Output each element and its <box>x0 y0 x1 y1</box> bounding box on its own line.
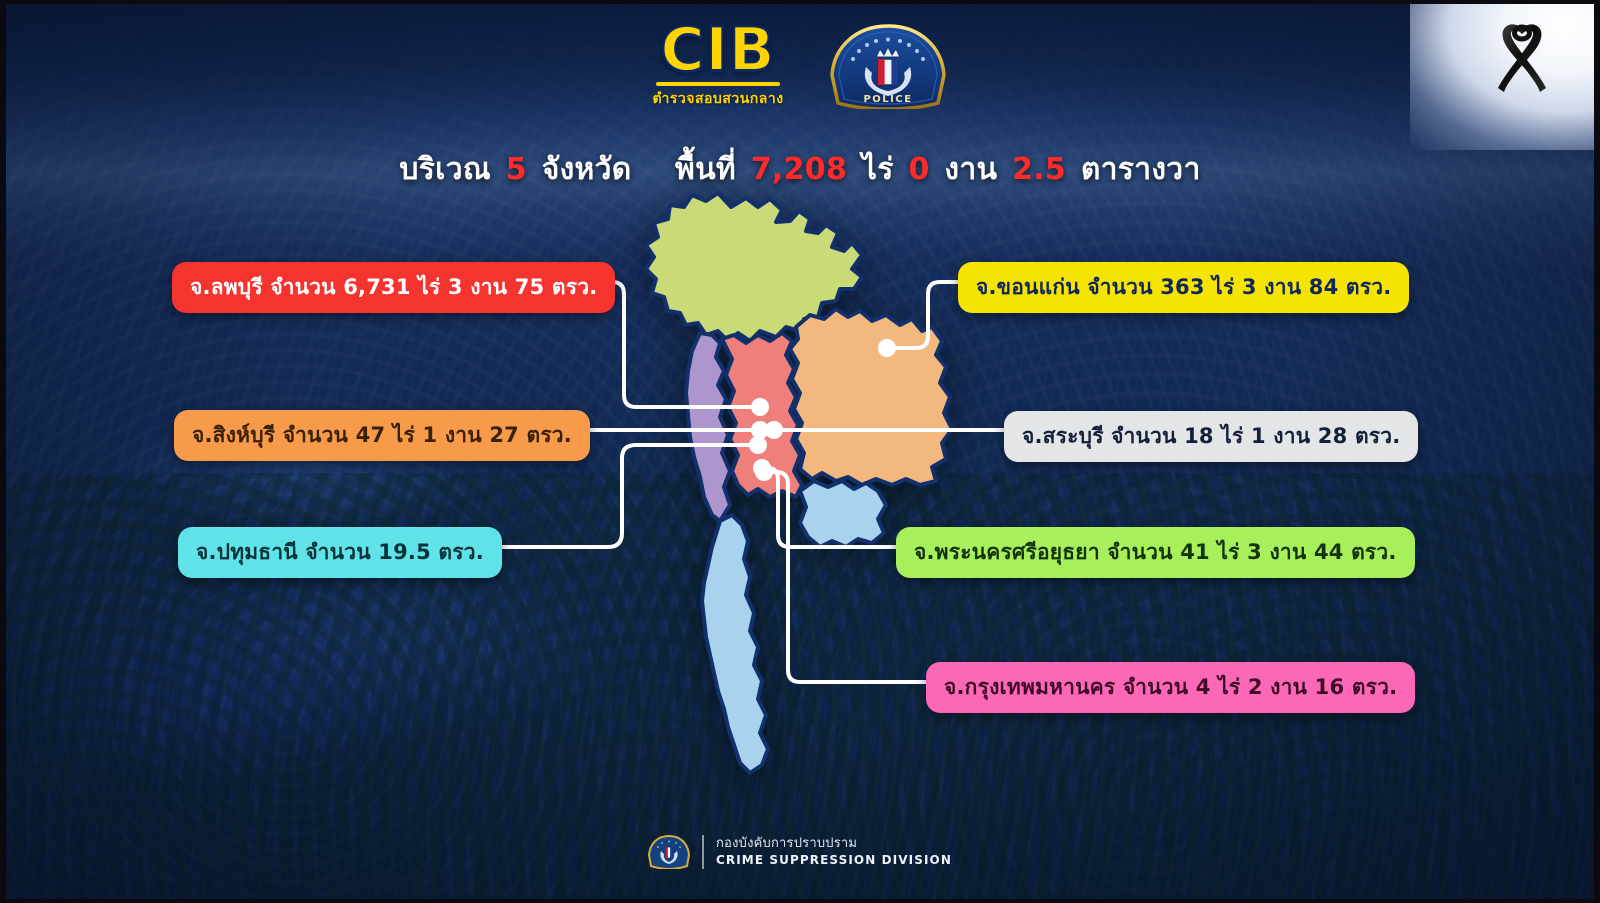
frame-left <box>0 0 6 903</box>
title-area-rai: 7,208 <box>751 152 847 187</box>
title-area-ngan: 0 <box>908 152 929 187</box>
province-label-singburi[interactable]: จ.สิงห์บุรี จำนวน 47 ไร่ 1 งาน 27 ตรว. <box>174 410 590 461</box>
cib-wordmark: CIB <box>660 22 775 79</box>
province-label-bangkok[interactable]: จ.กรุงเทพมหานคร จำนวน 4 ไร่ 2 งาน 16 ตรว… <box>926 662 1415 713</box>
title-area-wa: 2.5 <box>1012 152 1066 187</box>
frame-top <box>0 0 1600 4</box>
frame-right <box>1594 0 1600 903</box>
header-logos: CIB ตำรวจสอบสวนกลาง <box>0 14 1600 118</box>
map-region-south <box>702 515 768 773</box>
cib-underline <box>656 82 780 86</box>
footer-divider <box>702 835 704 869</box>
map-region-east <box>800 481 886 547</box>
footer-english-name: CRIME SUPPRESSION DIVISION <box>716 853 952 869</box>
crime-suppression-badge-icon: POLICE <box>828 23 948 109</box>
map-region-west <box>686 333 730 521</box>
title-province-count: 5 <box>506 152 527 187</box>
province-label-pathumthani[interactable]: จ.ปทุมธานี จำนวน 19.5 ตรว. <box>178 527 502 578</box>
footer-thai-name: กองบังคับการปราบปราม <box>716 836 952 853</box>
footer-text: กองบังคับการปราบปราม CRIME SUPPRESSION D… <box>716 836 952 868</box>
title-unit-wa: ตารางวา <box>1081 152 1201 187</box>
title-part1: บริเวณ <box>399 152 491 187</box>
province-label-ayutthaya[interactable]: จ.พระนครศรีอยุธยา จำนวน 41 ไร่ 3 งาน 44 … <box>896 527 1415 578</box>
cib-logo: CIB ตำรวจสอบสวนกลาง <box>652 22 783 110</box>
title-part2: จังหวัด <box>542 152 632 187</box>
cib-subtitle: ตำรวจสอบสวนกลาง <box>652 88 783 110</box>
title-part3: พื้นที่ <box>675 152 736 187</box>
title-unit-ngan: งาน <box>944 152 997 187</box>
title-unit-rai: ไร่ <box>862 152 894 187</box>
province-label-saraburi[interactable]: จ.สระบุรี จำนวน 18 ไร่ 1 งาน 28 ตรว. <box>1004 411 1418 462</box>
badge-police-text: POLICE <box>863 94 912 105</box>
infographic-canvas: CIB ตำรวจสอบสวนกลาง <box>0 0 1600 903</box>
map-region-northeast <box>790 309 952 485</box>
map-region-central <box>722 333 802 497</box>
frame-bottom <box>0 899 1600 903</box>
footer: กองบังคับการปราบปราม CRIME SUPPRESSION D… <box>0 835 1600 869</box>
province-label-khonkaen[interactable]: จ.ขอนแก่น จำนวน 363 ไร่ 3 งาน 84 ตรว. <box>958 262 1409 313</box>
province-label-lopburi[interactable]: จ.ลพบุรี จำนวน 6,731 ไร่ 3 งาน 75 ตรว. <box>172 262 615 313</box>
footer-badge-icon <box>648 835 690 869</box>
